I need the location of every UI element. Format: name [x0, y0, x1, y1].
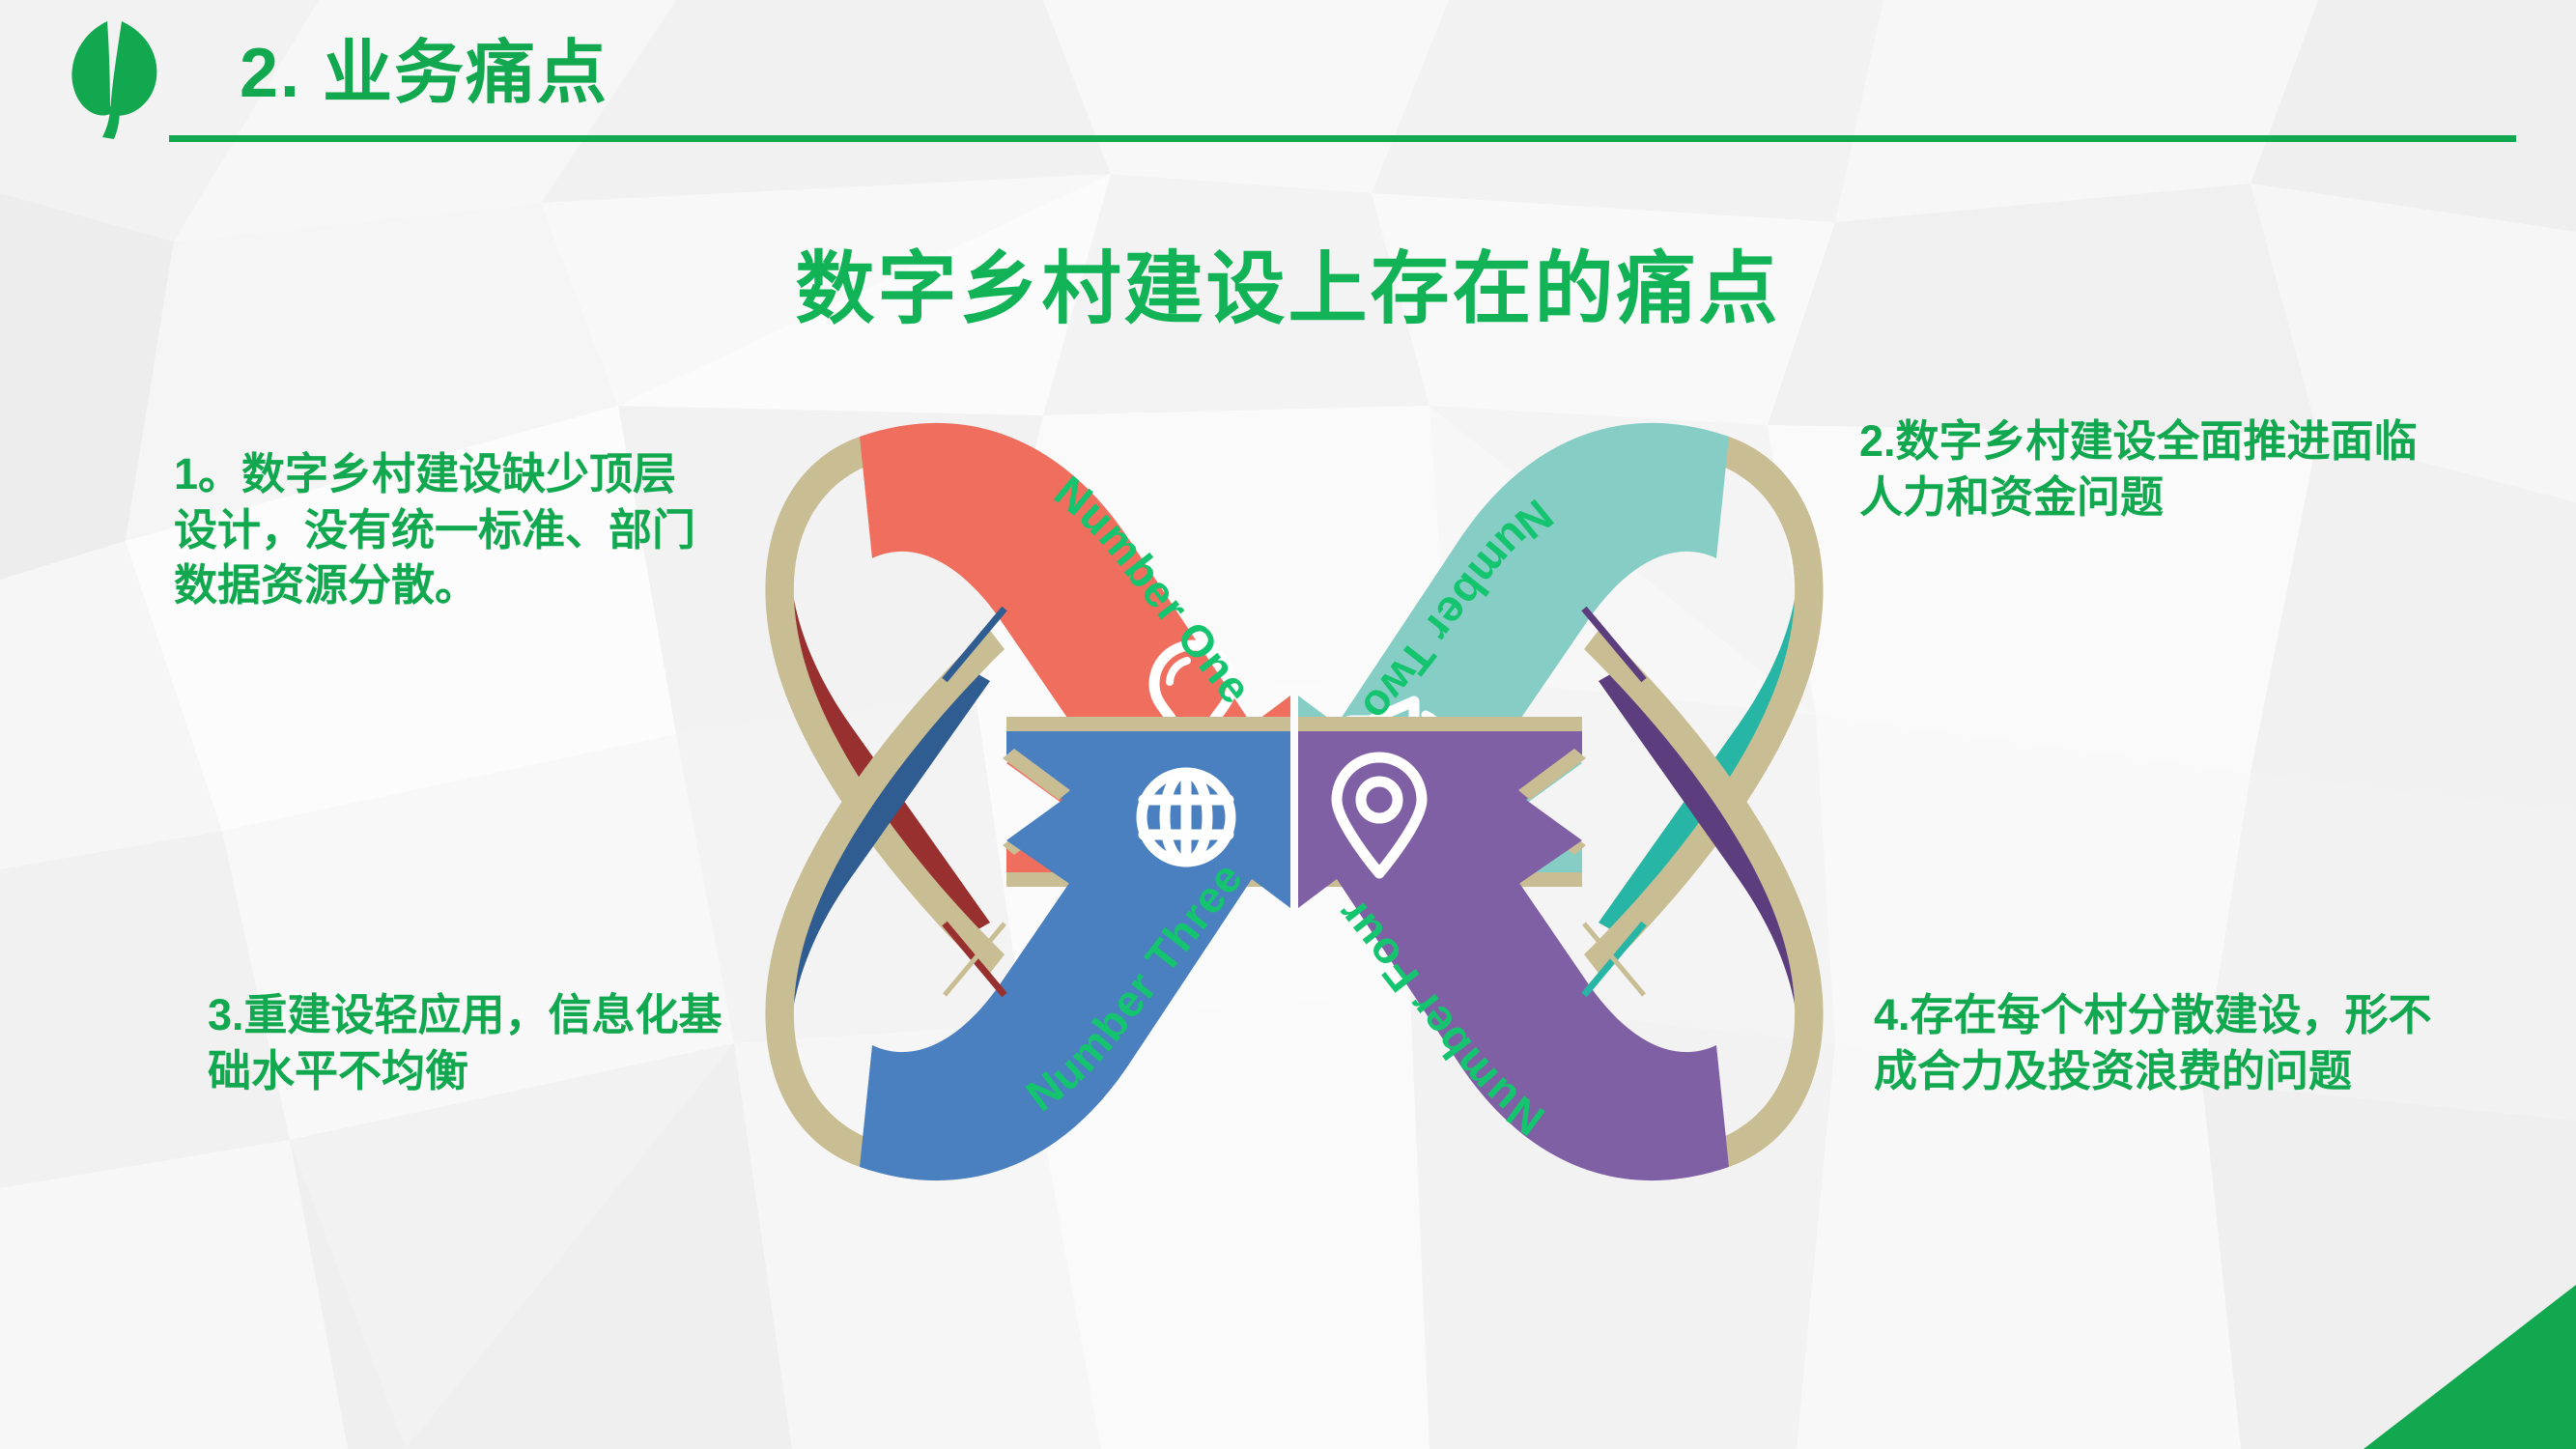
arrow-base-shadow-four	[1298, 717, 1582, 731]
callout-text-3: 3.重建设轻应用，信息化基础水平不均衡	[208, 987, 729, 1098]
slide-canvas: 2. 业务痛点 数字乡村建设上存在的痛点	[0, 0, 2576, 1449]
arrow-base-shadow-three	[1006, 717, 1290, 731]
arrow-head-four	[1298, 731, 1582, 925]
slide-header: 2. 业务痛点	[0, 0, 2576, 164]
leaf-icon	[54, 14, 168, 139]
page-title: 2. 业务痛点	[240, 15, 609, 117]
callout-text-2: 2.数字乡村建设全面推进面临人力和资金问题	[1859, 413, 2420, 525]
header-divider	[169, 135, 2516, 142]
corner-accent-triangle	[2325, 1285, 2576, 1449]
callout-text-1: 1。数字乡村建设缺少顶层设计，没有统一标准、部门数据资源分散。	[174, 446, 715, 613]
callout-text-4: 4.存在每个村分散建设，形不成合力及投资浪费的问题	[1874, 987, 2434, 1098]
four-arrow-bowtie-diagram: Number One Number Two	[715, 386, 1874, 1217]
main-title: 数字乡村建设上存在的痛点	[0, 224, 2576, 339]
